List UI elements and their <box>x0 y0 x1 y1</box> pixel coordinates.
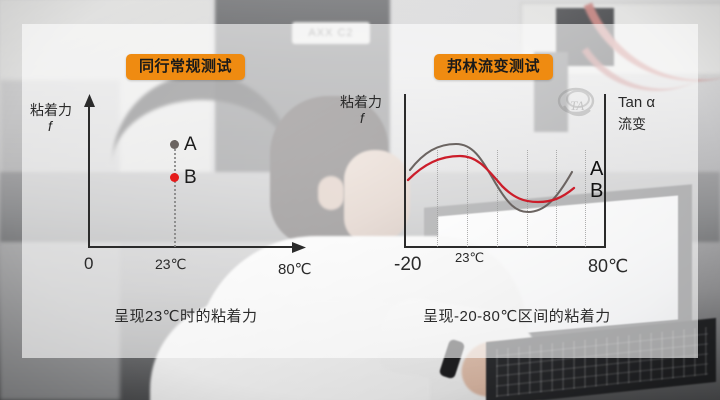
right-x-tick-80c: 80℃ <box>588 256 628 277</box>
infographic-screenshot: AXX C2 同行常规测试 粘着力 f <box>0 0 720 400</box>
right-caption: 呈现-20-80℃区间的粘着力 <box>423 305 611 326</box>
right-y-axis-label: 粘着力 <box>340 92 382 112</box>
curve-series-b <box>408 156 574 202</box>
right-curve-a-label: A <box>590 158 603 181</box>
right-y-axis-symbol: f <box>360 110 364 126</box>
right-y-axis-right-label: Tan α <box>618 94 655 111</box>
right-curves <box>404 94 609 250</box>
right-chart: 粘着力 f Tan α 流变 TA A B <box>0 0 720 400</box>
right-curve-b-label: B <box>590 180 603 203</box>
right-x-tick-23c: 23℃ <box>455 250 484 266</box>
right-y-axis-right-sub: 流变 <box>618 114 646 134</box>
right-x-tick-minus20: -20 <box>394 254 421 276</box>
